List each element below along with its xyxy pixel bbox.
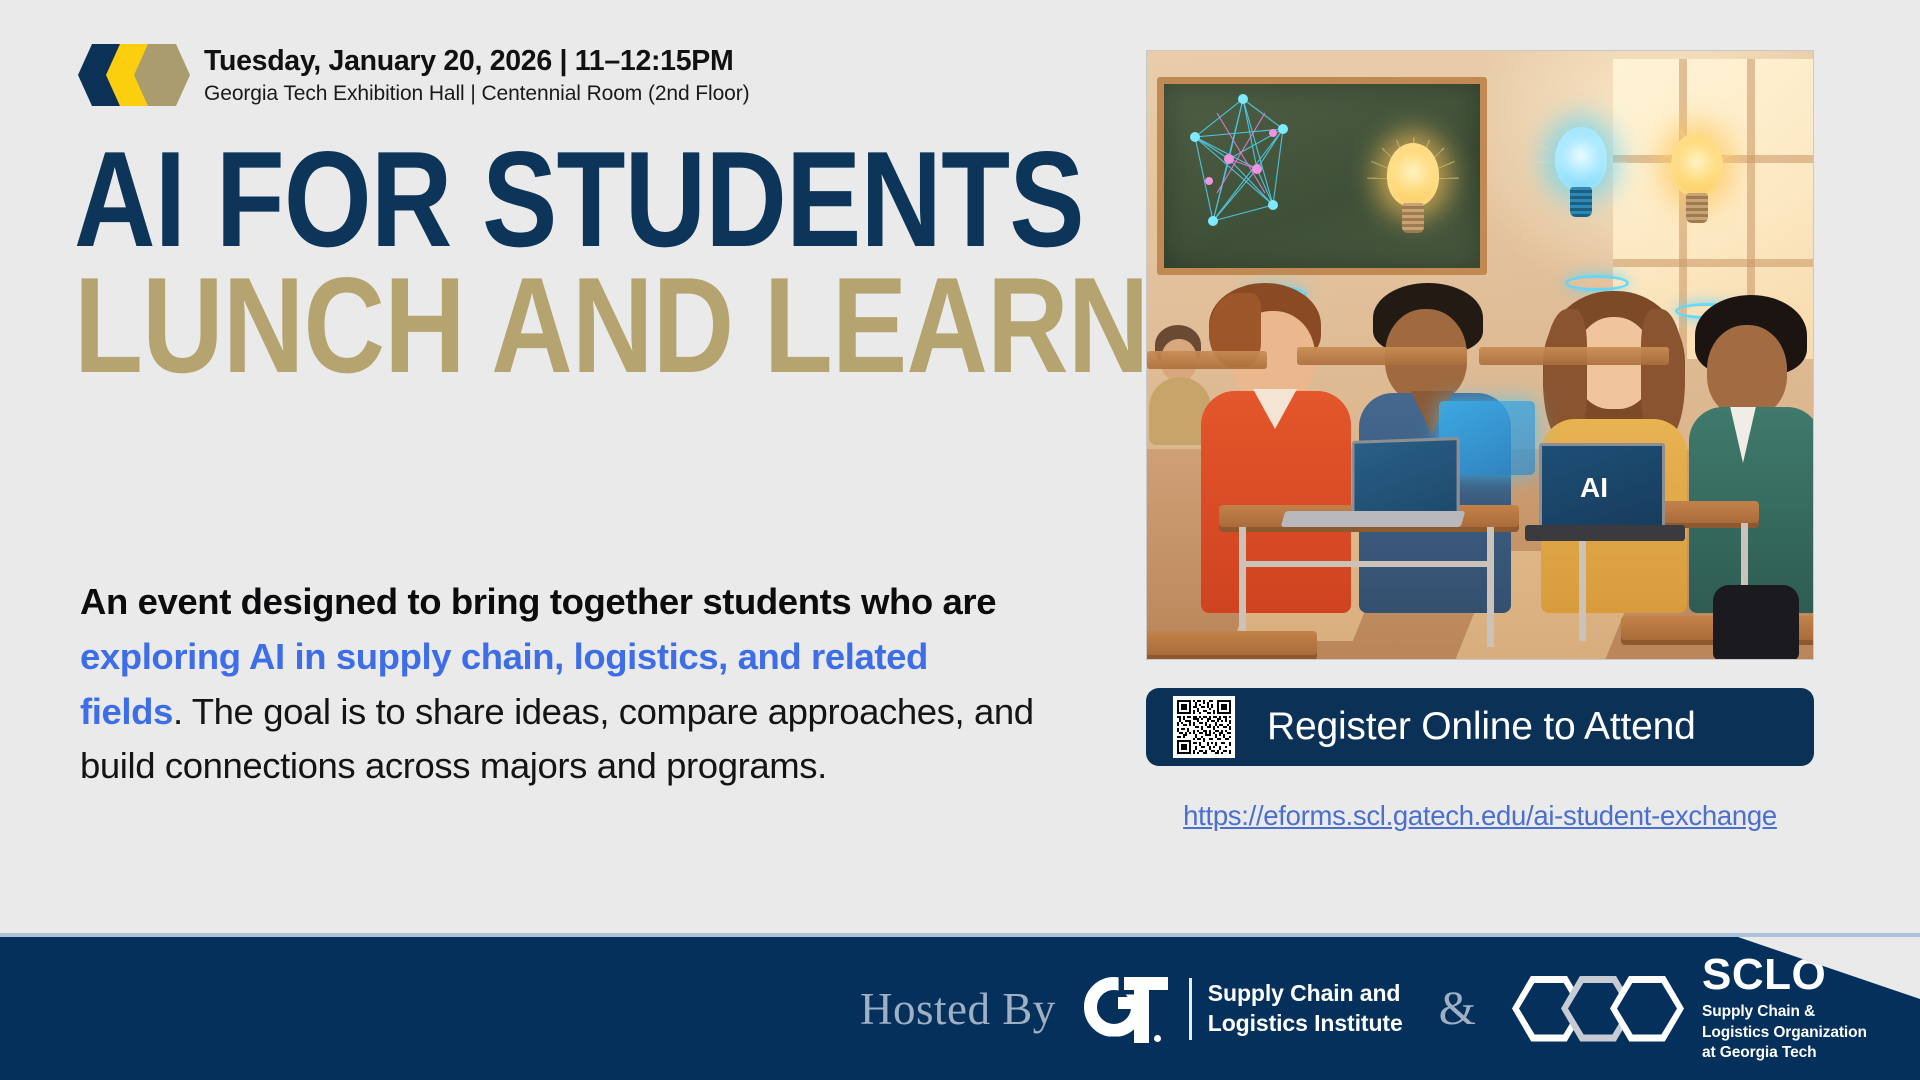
lightbulb-icon <box>1375 143 1451 247</box>
laptop-screen-ai: AI <box>1539 443 1665 531</box>
lightbulb-icon <box>1659 133 1735 237</box>
classroom-ai-illustration: AI <box>1146 50 1814 660</box>
footer-content: Hosted By Supply Chain and Logistics Ins… <box>860 937 1867 1080</box>
ampersand-separator: & <box>1439 981 1476 1036</box>
desk <box>1479 347 1669 365</box>
sclo-interlocking-hexagons-icon <box>1512 972 1684 1046</box>
qr-code-icon <box>1173 696 1235 758</box>
sclo-tagline: Supply Chain & Logistics Organization at… <box>1702 1002 1867 1064</box>
backpack <box>1713 585 1799 660</box>
event-datetime: Tuesday, January 20, 2026 | 11–12:15PM <box>204 45 750 79</box>
laptop-screen-silver <box>1352 437 1460 519</box>
sclo-tagline-line-3: at Georgia Tech <box>1702 1043 1867 1064</box>
desk-leg <box>1487 527 1494 647</box>
three-hexagons-logo-icon <box>78 42 186 114</box>
event-header: Tuesday, January 20, 2026 | 11–12:15PM G… <box>78 42 750 114</box>
event-description: An event designed to bring together stud… <box>80 575 1040 794</box>
sclo-tagline-line-2: Logistics Organization <box>1702 1023 1867 1044</box>
student-teal <box>1689 295 1814 613</box>
desk-crossbar <box>1239 561 1494 567</box>
desk-leg <box>1239 527 1246 647</box>
hosted-by-label: Hosted By <box>860 983 1056 1035</box>
event-location: Georgia Tech Exhibition Hall | Centennia… <box>204 82 750 106</box>
register-button[interactable]: Register Online to Attend <box>1146 688 1814 766</box>
sclo-tagline-line-1: Supply Chain & <box>1702 1002 1867 1023</box>
desk <box>1147 351 1267 369</box>
institute-line-1: Supply Chain and <box>1208 979 1403 1008</box>
headline-line-1: AI FOR STUDENTS <box>74 142 1148 256</box>
headline-line-2: LUNCH AND LEARN <box>74 268 1148 382</box>
laptop-ai-label: AI <box>1580 472 1608 504</box>
desk-foreground <box>1146 631 1317 655</box>
register-button-label: Register Online to Attend <box>1267 705 1696 749</box>
footer-divider <box>1189 978 1192 1040</box>
laptop-keyboard-silver <box>1281 511 1466 527</box>
georgia-tech-gt-monogram-icon <box>1084 971 1172 1047</box>
supply-chain-logistics-institute-name: Supply Chain and Logistics Institute <box>1208 979 1403 1038</box>
description-part-2: . The goal is to share ideas, compare ap… <box>80 691 1034 787</box>
halo-ring <box>1565 275 1629 291</box>
header-text-block: Tuesday, January 20, 2026 | 11–12:15PM G… <box>204 42 750 106</box>
neural-network-graphic <box>1169 73 1327 259</box>
sclo-wordmark: SCLO Supply Chain & Logistics Organizati… <box>1702 953 1867 1064</box>
footer-top-rule <box>0 933 1920 937</box>
register-url-link[interactable]: https://eforms.scl.gatech.edu/ai-student… <box>1146 800 1814 832</box>
sclo-acronym: SCLO <box>1702 953 1867 997</box>
description-part-1: An event designed to bring together stud… <box>80 581 996 622</box>
lightbulb-icon-cyan <box>1543 127 1619 231</box>
institute-line-2: Logistics Institute <box>1208 1009 1403 1038</box>
footer-bar: Hosted By Supply Chain and Logistics Ins… <box>0 937 1920 1080</box>
laptop-keyboard-dark <box>1525 525 1685 541</box>
desk <box>1297 347 1467 365</box>
